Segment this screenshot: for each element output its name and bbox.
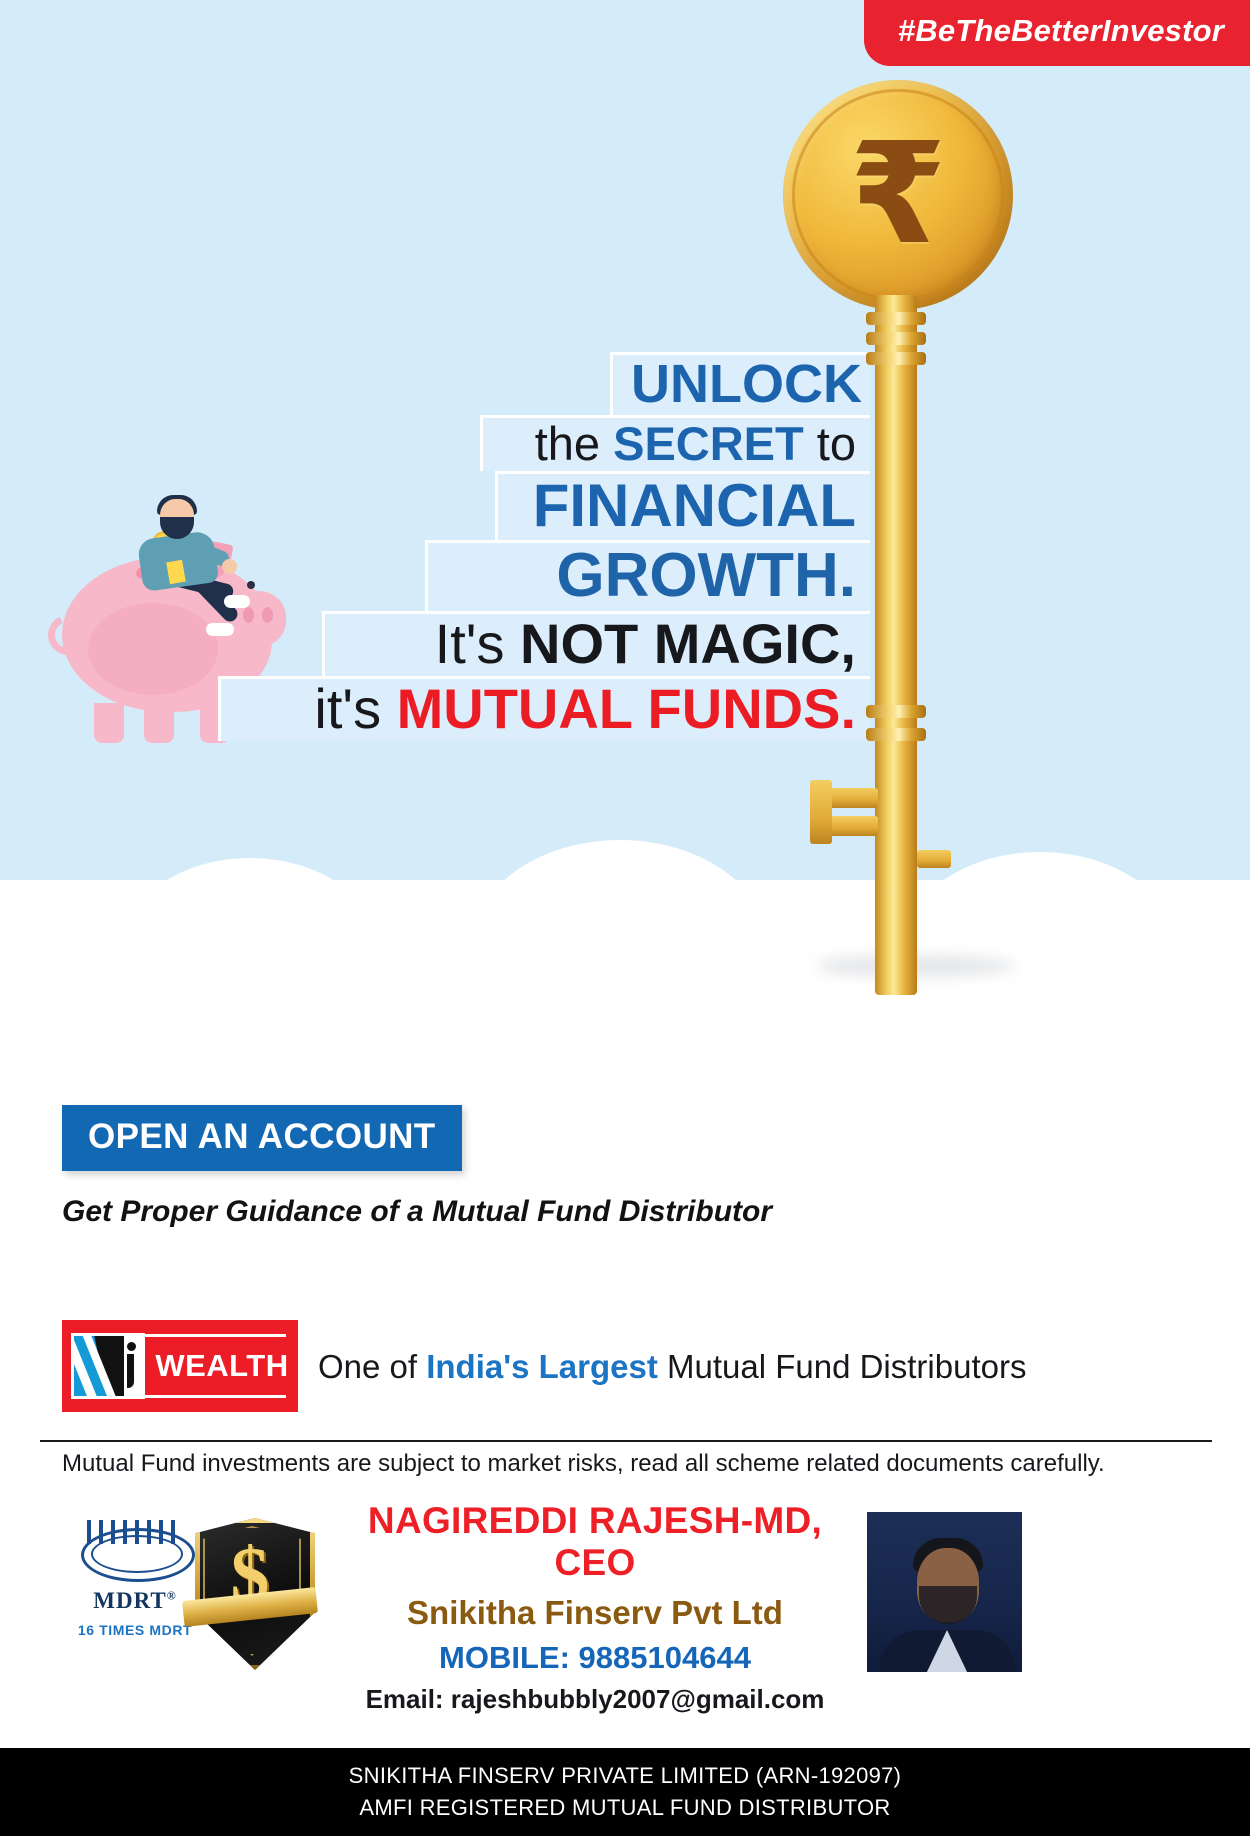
contact-block: NAGIREDDI RAJESH-MD, CEO Snikitha Finser… (330, 1500, 860, 1715)
cta-subtitle: Get Proper Guidance of a Mutual Fund Dis… (62, 1195, 772, 1229)
contact-mobile[interactable]: MOBILE: 9885104644 (330, 1640, 860, 1676)
footer-line-2: AMFI REGISTERED MUTUAL FUND DISTRIBUTOR (359, 1795, 890, 1821)
nj-wealth-wordmark: WEALTH (155, 1348, 288, 1384)
lower-section: OPEN AN ACCOUNT Get Proper Guidance of a… (0, 1000, 1250, 1836)
dollar-shield-badge-icon: $ (185, 1512, 315, 1672)
nj-monogram-icon (71, 1333, 145, 1399)
contact-email[interactable]: Email: rajeshbubbly2007@gmail.com (330, 1684, 860, 1715)
hashtag-ribbon: #BeTheBetterInvestor (864, 0, 1250, 66)
headline-the: the (535, 417, 613, 470)
headline-its-b: it's (314, 677, 396, 740)
horizontal-divider (40, 1440, 1212, 1442)
rupee-symbol: ₹ (783, 80, 1013, 310)
nj-wealth-logo: WEALTH (62, 1320, 298, 1412)
tagline-highlight: India's Largest (426, 1348, 658, 1385)
mdrt-ring-logo-icon: MDRT® 16 TIMES MDRT (70, 1520, 200, 1670)
mdrt-label: MDRT® (70, 1588, 200, 1614)
hashtag-text: #BeTheBetterInvestor (898, 13, 1224, 49)
open-account-button[interactable]: OPEN AN ACCOUNT (62, 1105, 462, 1171)
headline-its-a: It's (435, 612, 520, 675)
footer-bar: SNIKITHA FINSERV PRIVATE LIMITED (ARN-19… (0, 1748, 1250, 1836)
rupee-coin-icon: ₹ (783, 80, 1013, 310)
headline-block: UNLOCK the SECRET to FINANCIAL GROWTH. I… (0, 352, 900, 741)
contact-name: NAGIREDDI RAJESH-MD, CEO (330, 1500, 860, 1584)
ceo-portrait-photo (867, 1512, 1022, 1672)
footer-line-1: SNIKITHA FINSERV PRIVATE LIMITED (ARN-19… (349, 1763, 902, 1789)
gold-key-icon: ₹ (770, 80, 1050, 980)
tagline-prefix: One of (318, 1348, 426, 1385)
poster-canvas: #BeTheBetterInvestor (0, 0, 1250, 1836)
mdrt-times-label: 16 TIMES MDRT (70, 1622, 200, 1638)
contact-company: Snikitha Finserv Pvt Ltd (330, 1594, 860, 1632)
risk-disclaimer: Mutual Fund investments are subject to m… (62, 1450, 1105, 1478)
brand-tagline: One of India's Largest Mutual Fund Distr… (318, 1348, 1026, 1386)
tagline-suffix: Mutual Fund Distributors (658, 1348, 1027, 1385)
cloud-band (0, 770, 1250, 1030)
